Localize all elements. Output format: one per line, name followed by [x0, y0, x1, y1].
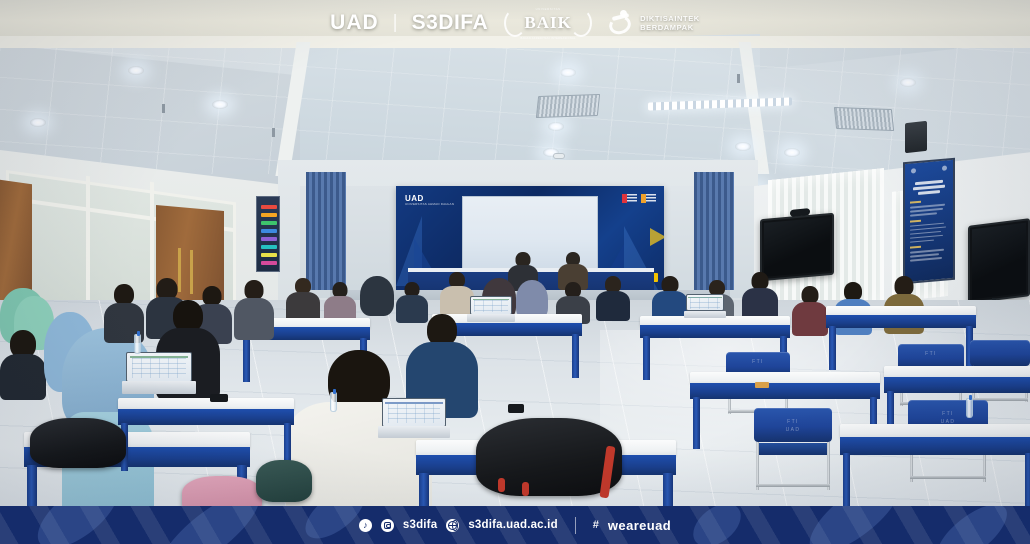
laptop	[126, 352, 192, 394]
sprinkler-head	[272, 128, 275, 137]
sprinkler-head	[162, 104, 165, 113]
wall-tv-left	[760, 213, 834, 281]
ceiling-downlight	[735, 142, 751, 151]
ceiling-downlight	[30, 118, 46, 127]
audience-member	[286, 278, 320, 318]
ceiling-downlight	[128, 66, 144, 75]
ceiling-beam-front	[0, 36, 1030, 48]
ceiling-downlight	[784, 148, 800, 157]
tiktok-icon[interactable]: ♪	[359, 519, 372, 532]
water-bottle	[966, 398, 973, 418]
footer-divider	[575, 517, 576, 534]
backdrop-uad-logo: UAD UNIVERSITAS AHMAD DAHLAN	[405, 195, 454, 206]
backdrop-partner-badges	[622, 194, 656, 203]
sprinkler-head	[737, 74, 740, 83]
partition-mullion	[86, 176, 90, 315]
smartphone	[210, 394, 228, 402]
ceiling-downlight	[548, 122, 564, 131]
wall-speaker	[905, 121, 927, 153]
screenshot-root: UAD UNIVERSITAS AHMAD DAHLAN KEMENDIKBUD	[0, 0, 1030, 544]
wall-pilaster-left	[306, 172, 346, 290]
audience-member	[234, 280, 274, 336]
backpack-foreground	[476, 418, 622, 496]
water-bottle	[330, 392, 337, 412]
instagram-icon[interactable]	[381, 519, 394, 532]
smartphone	[508, 404, 524, 413]
water-bottle	[134, 334, 141, 354]
audience-member	[792, 286, 828, 334]
audience-member	[324, 282, 356, 320]
ceiling-downlight	[560, 68, 576, 77]
audience-member	[596, 276, 630, 320]
student-desk	[118, 398, 294, 468]
ceiling-downlight	[212, 100, 228, 109]
smoke-detector	[553, 153, 565, 159]
social-handle: s3difa	[403, 519, 437, 531]
laptop	[686, 294, 724, 318]
badge-red	[622, 194, 637, 203]
information-poster	[903, 158, 955, 285]
weareuad-tagline: weareuad	[608, 518, 671, 533]
wall-poster-left	[256, 196, 280, 272]
wall-tv-right	[968, 218, 1030, 304]
audience-member	[360, 276, 394, 320]
globe-icon[interactable]	[446, 519, 459, 532]
hashtag-symbol: #	[593, 519, 599, 531]
audience-member	[0, 330, 46, 394]
audience-member	[742, 272, 778, 320]
classroom-chair: FTI UAD	[754, 408, 832, 492]
brand-footer: ♪ s3difa s3difa.uad.ac.id # weareuad	[0, 506, 1030, 544]
audience-member	[440, 272, 474, 314]
backpack	[30, 418, 126, 468]
website-url[interactable]: s3difa.uad.ac.id	[468, 519, 557, 531]
badge-orange	[641, 194, 656, 203]
laptop	[382, 398, 446, 438]
tote-bag	[256, 460, 312, 502]
ceiling-downlight	[900, 78, 916, 87]
event-photograph: UAD UNIVERSITAS AHMAD DAHLAN KEMENDIKBUD	[0, 0, 1030, 544]
ceiling-ac-vent	[536, 94, 600, 118]
ceiling-ac-vent	[834, 107, 894, 131]
wall-pilaster-right	[694, 172, 734, 290]
student-desk	[840, 424, 1030, 510]
